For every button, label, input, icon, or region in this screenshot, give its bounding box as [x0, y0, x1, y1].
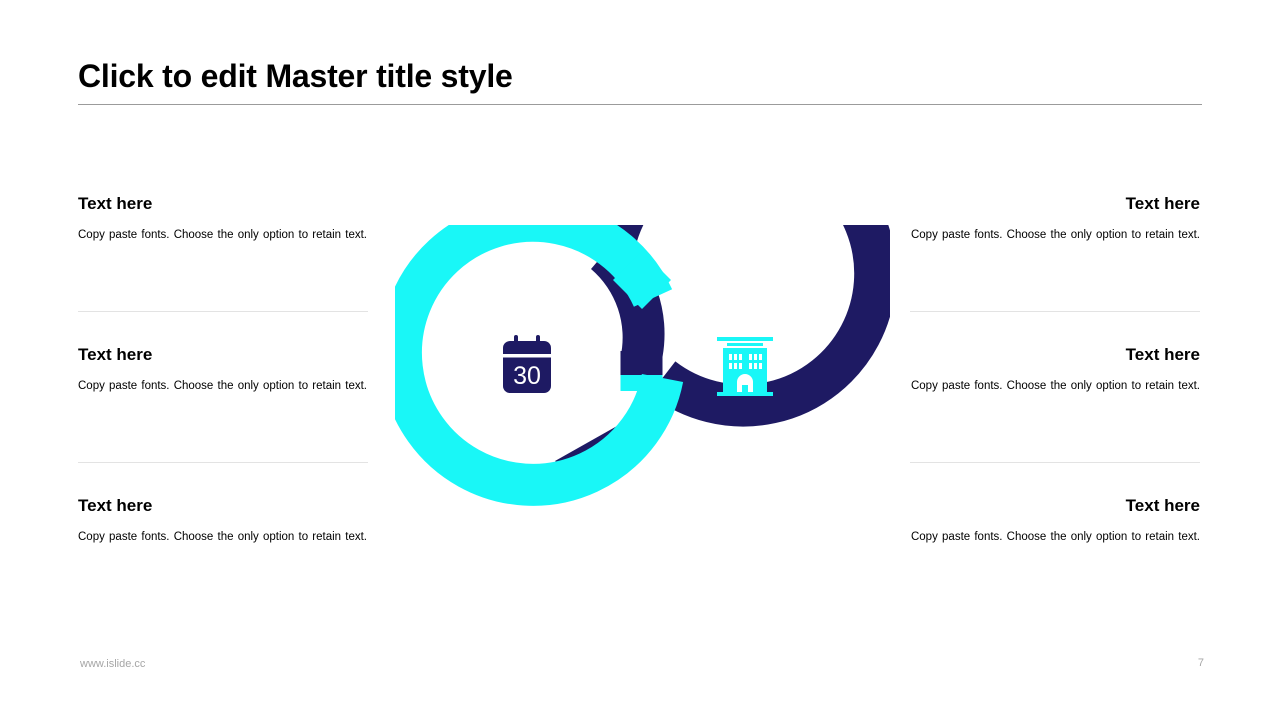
left-block-2-body[interactable]: Copy paste fonts. Choose the only option…: [78, 375, 368, 397]
left-block-1-body[interactable]: Copy paste fonts. Choose the only option…: [78, 224, 368, 246]
right-block-2[interactable]: Text here Copy paste fonts. Choose the o…: [910, 346, 1200, 397]
building-icon: [717, 337, 773, 396]
left-block-1-heading[interactable]: Text here: [78, 195, 368, 214]
left-block-3-body[interactable]: Copy paste fonts. Choose the only option…: [78, 526, 368, 548]
right-block-3[interactable]: Text here Copy paste fonts. Choose the o…: [910, 497, 1200, 548]
right-block-2-body[interactable]: Copy paste fonts. Choose the only option…: [910, 375, 1200, 397]
right-divider-1: [910, 311, 1200, 312]
right-block-1-heading[interactable]: Text here: [910, 195, 1200, 214]
right-block-1[interactable]: Text here Copy paste fonts. Choose the o…: [910, 195, 1200, 246]
left-divider-1: [78, 311, 368, 312]
calendar-icon: 30: [503, 335, 551, 393]
page-title[interactable]: Click to edit Master title style: [78, 58, 513, 95]
left-block-2[interactable]: Text here Copy paste fonts. Choose the o…: [78, 346, 368, 397]
footer-url[interactable]: www.islide.cc: [80, 658, 145, 670]
title-divider: [78, 104, 1202, 105]
left-divider-2: [78, 462, 368, 463]
left-block-3-heading[interactable]: Text here: [78, 497, 368, 516]
calendar-day-number: 30: [513, 362, 541, 390]
right-block-3-heading[interactable]: Text here: [910, 497, 1200, 516]
left-block-2-heading[interactable]: Text here: [78, 346, 368, 365]
left-block-3[interactable]: Text here Copy paste fonts. Choose the o…: [78, 497, 368, 548]
right-block-1-body[interactable]: Copy paste fonts. Choose the only option…: [910, 224, 1200, 246]
right-divider-2: [910, 462, 1200, 463]
left-block-1[interactable]: Text here Copy paste fonts. Choose the o…: [78, 195, 368, 246]
footer-page-number: 7: [1180, 657, 1204, 669]
right-block-2-heading[interactable]: Text here: [910, 346, 1200, 365]
right-block-3-body[interactable]: Copy paste fonts. Choose the only option…: [910, 526, 1200, 548]
infinity-ring-diagram: 30: [395, 225, 890, 525]
